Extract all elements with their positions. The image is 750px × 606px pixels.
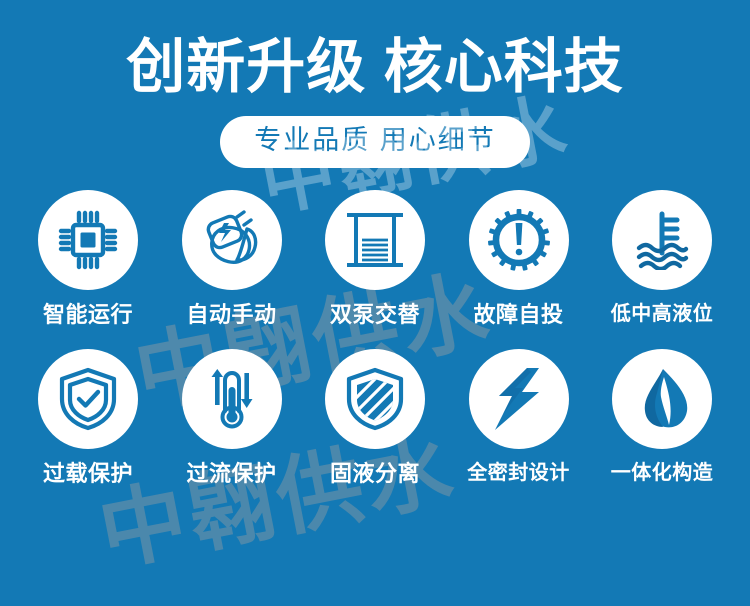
feature-item-auto-manual[interactable]: 自动手动 [166,190,298,327]
feature-label: 过流保护 [186,462,276,486]
plug-leaf-icon [200,209,264,271]
icon-circle [38,190,138,290]
page-title: 创新升级 核心科技 [0,34,750,100]
feature-row-2: 过载保护 [22,349,728,486]
thermometer-arrows-icon [201,367,263,431]
feature-label: 过载保护 [43,462,133,486]
feature-label: 智能运行 [43,303,133,327]
feature-row-1: 智能运行 [22,190,728,327]
subtitle-pill-wrapper: 专业品质 用心细节 [0,116,750,168]
icon-circle [182,349,282,449]
feature-item-fully-sealed-design[interactable]: 全密封设计 [453,349,585,484]
feature-label: 双泵交替 [330,303,420,327]
cpu-chip-icon [57,209,119,271]
feature-label: 一体化构造 [611,462,714,484]
feature-label: 自动手动 [186,303,276,327]
feature-item-dual-pump-alternation[interactable]: 双泵交替 [309,190,441,327]
water-leaf-icon [633,367,691,431]
banner-header: 创新升级 核心科技 专业品质 用心细节 [0,0,750,168]
icon-circle [38,349,138,449]
feature-label: 全密封设计 [467,462,570,484]
feature-item-fault-auto-switch[interactable]: 故障自投 [453,190,585,327]
lightning-bolt-icon [493,366,545,432]
feature-label: 固液分离 [330,462,420,486]
gear-alert-icon [488,209,550,271]
dual-pump-icon [345,209,405,271]
feature-item-solid-liquid-separation[interactable]: 固液分离 [309,349,441,486]
promo-banner: 创新升级 核心科技 专业品质 用心细节 中翱供水 中翱供水 中翱供水 [0,0,750,606]
feature-label: 故障自投 [473,303,563,327]
feature-item-integrated-structure[interactable]: 一体化构造 [596,349,728,484]
water-level-gauge-icon [631,210,693,270]
icon-circle [325,190,425,290]
icon-circle [182,190,282,290]
icon-circle [325,349,425,449]
icon-circle [469,349,569,449]
shield-stripes-icon [345,367,405,431]
feature-label: 低中高液位 [611,303,714,325]
icon-circle [469,190,569,290]
icon-circle [612,190,712,290]
feature-item-intelligent-operation[interactable]: 智能运行 [22,190,154,327]
feature-item-overload-protection[interactable]: 过载保护 [22,349,154,486]
feature-item-water-levels[interactable]: 低中高液位 [596,190,728,325]
feature-grid: 智能运行 [0,190,750,486]
icon-circle [612,349,712,449]
subtitle-badge: 专业品质 用心细节 [220,116,530,168]
shield-check-icon [58,367,118,431]
feature-item-overcurrent-protection[interactable]: 过流保护 [166,349,298,486]
